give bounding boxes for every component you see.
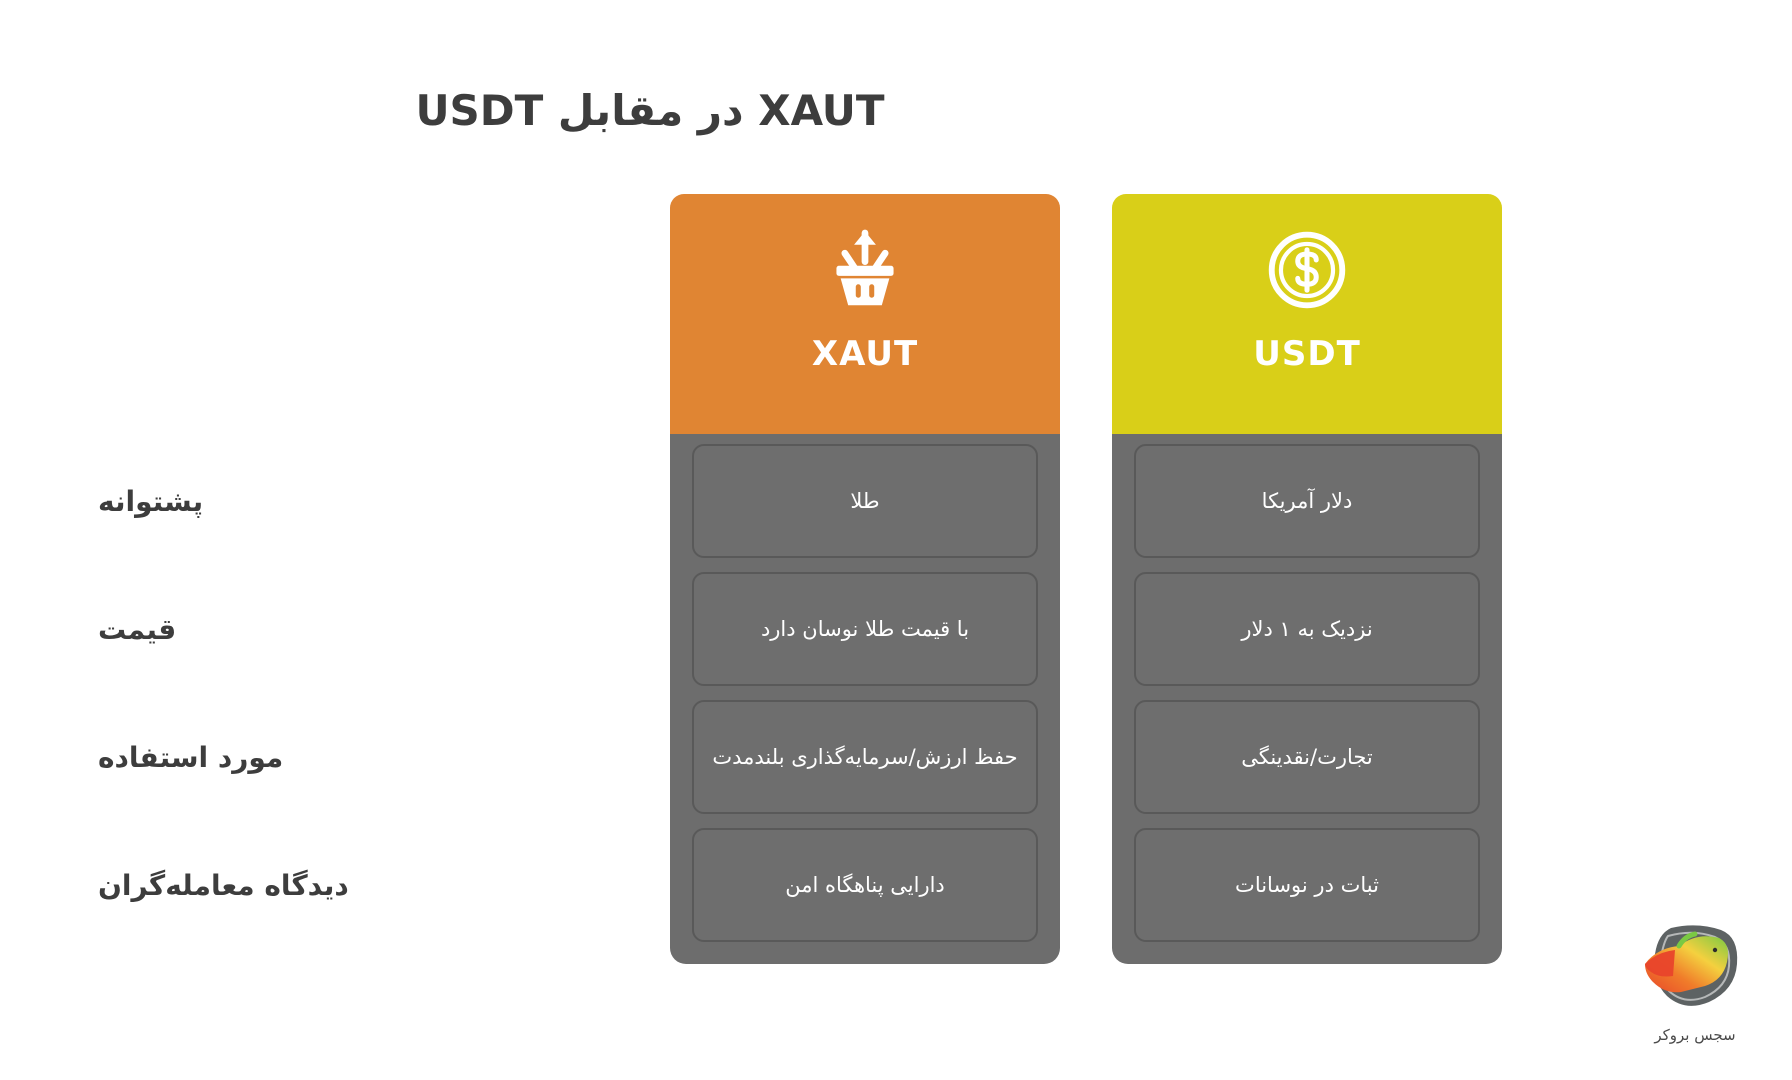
- cell-usdt-backing: دلار آمریکا: [1134, 444, 1480, 558]
- cell-xaut-use-case: حفظ ارزش/سرمایه‌گذاری بلندمدت: [692, 700, 1038, 814]
- column-header-usdt: USDT: [1112, 194, 1502, 434]
- row-label-traders-view: دیدگاه معامله‌گران: [70, 828, 610, 942]
- cell-usdt-price: نزدیک به ۱ دلار: [1134, 572, 1480, 686]
- cell-usdt-use-case: تجارت/نقدینگی: [1134, 700, 1480, 814]
- cell-xaut-traders-view: دارایی پناهگاه امن: [692, 828, 1038, 942]
- cell-xaut-price: با قیمت طلا نوسان دارد: [692, 572, 1038, 686]
- brand-logo: سجس بروکر: [1620, 920, 1770, 1060]
- shopping-basket-up-arrow-icon: [823, 228, 907, 312]
- column-label-xaut: XAUT: [812, 334, 918, 374]
- comparison-table: USDT دلار آمریکا نزدیک به ۱ دلار تجارت/ن…: [670, 194, 1502, 964]
- row-label-backing: پشتوانه: [70, 444, 610, 558]
- column-usdt: USDT دلار آمریکا نزدیک به ۱ دلار تجارت/ن…: [1112, 194, 1502, 964]
- cell-usdt-traders-view: ثبات در نوسانات: [1134, 828, 1480, 942]
- row-label-price: قیمت: [70, 572, 610, 686]
- cell-xaut-backing: طلا: [692, 444, 1038, 558]
- row-label-use-case: مورد استفاده: [70, 700, 610, 814]
- brand-logo-text: سجس بروکر: [1620, 1026, 1770, 1044]
- column-xaut: XAUT طلا با قیمت طلا نوسان دارد حفظ ارزش…: [670, 194, 1060, 964]
- column-body-usdt: دلار آمریکا نزدیک به ۱ دلار تجارت/نقدینگ…: [1112, 434, 1502, 964]
- bull-bear-shield-icon: [1635, 920, 1755, 1020]
- column-header-xaut: XAUT: [670, 194, 1060, 434]
- page-title: XAUT در مقابل USDT: [0, 86, 1300, 135]
- row-label-list: پشتوانه قیمت مورد استفاده دیدگاه معامله‌…: [70, 434, 610, 964]
- column-label-usdt: USDT: [1253, 334, 1361, 374]
- column-body-xaut: طلا با قیمت طلا نوسان دارد حفظ ارزش/سرما…: [670, 434, 1060, 964]
- dollar-coin-icon: [1265, 228, 1349, 312]
